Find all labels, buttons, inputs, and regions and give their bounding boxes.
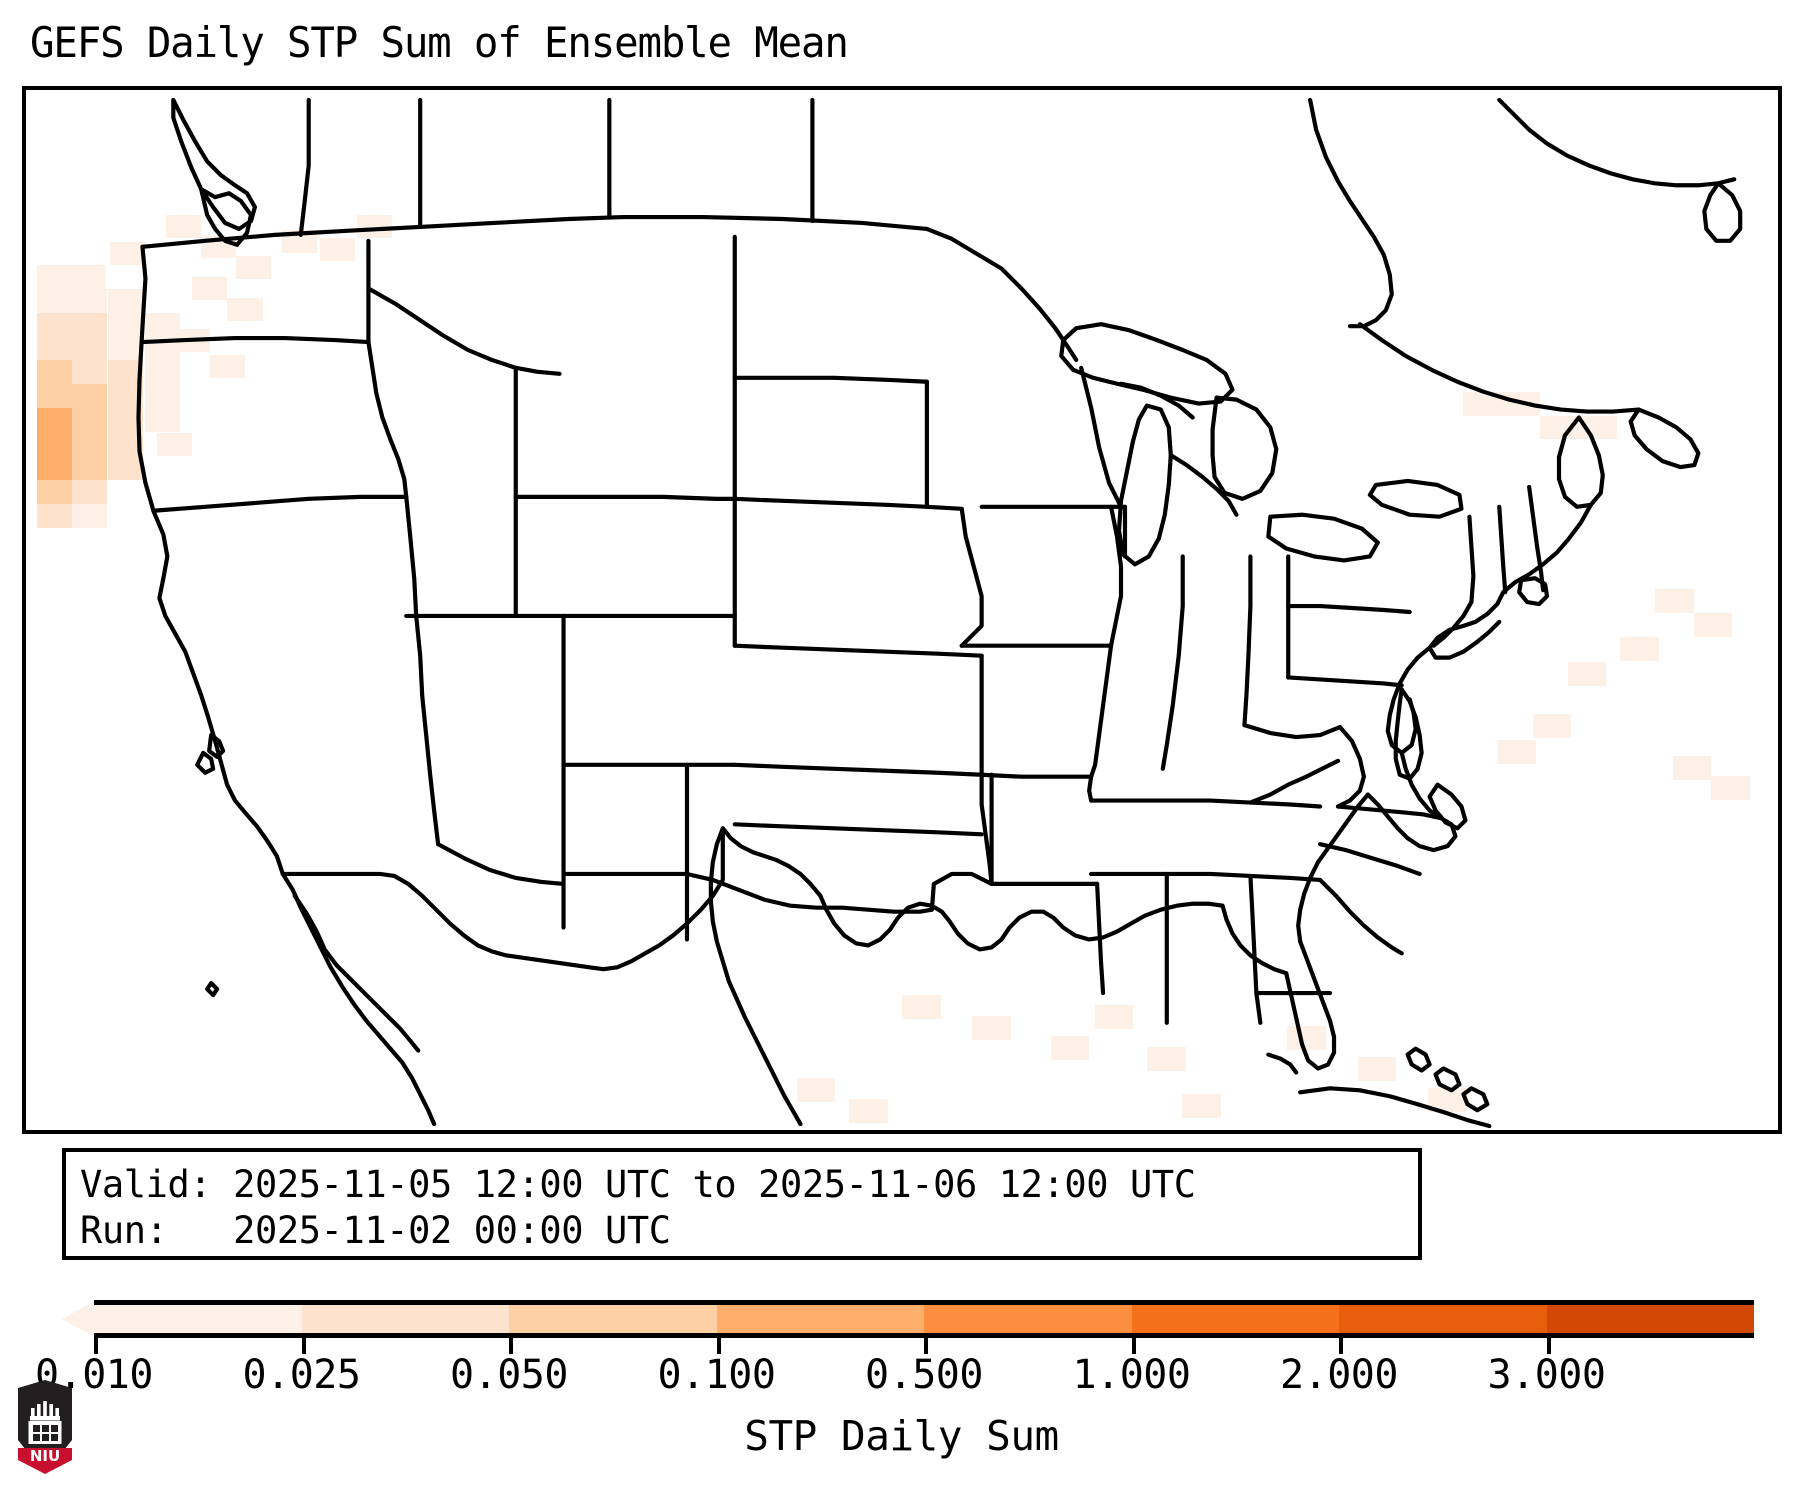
state-mi-lower bbox=[1171, 455, 1237, 515]
state-or-ca-nv bbox=[153, 497, 406, 511]
state-mo-ky-ms-river bbox=[1089, 777, 1091, 801]
colorbar-segment-5 bbox=[1132, 1305, 1340, 1333]
basemap-svg bbox=[26, 90, 1778, 1130]
bahamas-1 bbox=[1408, 1049, 1430, 1071]
colorbar-label-6: 2.000 bbox=[1280, 1352, 1398, 1398]
state-nv-ut-az bbox=[406, 497, 438, 844]
state-az-ca bbox=[438, 844, 563, 884]
st-lawrence bbox=[1360, 324, 1639, 411]
colorbar-label-1: 0.025 bbox=[243, 1352, 361, 1398]
colorbar-segment-6 bbox=[1339, 1305, 1547, 1333]
state-tn-ms-al-ga bbox=[1091, 874, 1320, 880]
state-ky-tn bbox=[1091, 801, 1320, 807]
state-ks-ok bbox=[735, 765, 982, 775]
state-ky-wv bbox=[1250, 761, 1338, 803]
nova-scotia bbox=[1631, 410, 1699, 468]
niu-logo: NIU bbox=[14, 1378, 76, 1476]
valid-time-line: Valid: 2025-11-05 12:00 UTC to 2025-11-0… bbox=[80, 1162, 1404, 1208]
state-nd-sd bbox=[735, 378, 927, 382]
colorbar-segment-0 bbox=[94, 1305, 302, 1333]
colorbar[interactable] bbox=[62, 1300, 1762, 1340]
lake-huron bbox=[1213, 398, 1277, 499]
border-mexico bbox=[283, 828, 723, 969]
coast-carolinas bbox=[1368, 753, 1456, 850]
state-ia-ne-mo-river bbox=[962, 509, 982, 646]
colorbar-under-arrow bbox=[62, 1300, 96, 1338]
state-ny-vt-nh bbox=[1469, 517, 1473, 602]
state-wv-va bbox=[1338, 727, 1364, 806]
lake-erie bbox=[1268, 515, 1378, 561]
state-pa-ny bbox=[1288, 606, 1409, 612]
state-ok-tx-north bbox=[735, 824, 982, 834]
state-ne-ks bbox=[735, 646, 982, 656]
coast-gulf bbox=[820, 896, 1222, 950]
state-in-oh bbox=[1244, 556, 1250, 725]
coast-labrador bbox=[1499, 100, 1734, 185]
colorbar-gradient bbox=[94, 1300, 1754, 1338]
niu-banner-text: NIU bbox=[30, 1447, 60, 1465]
run-time-line: Run: 2025-11-02 00:00 UTC bbox=[80, 1208, 1404, 1254]
colorbar-label-3: 0.100 bbox=[658, 1352, 776, 1398]
colorbar-label-7: 3.000 bbox=[1488, 1352, 1606, 1398]
state-tx-la bbox=[932, 874, 992, 910]
state-nc-sc bbox=[1320, 844, 1420, 874]
bahamas-3 bbox=[1463, 1088, 1487, 1110]
colorbar-axis-title: STP Daily Sum bbox=[0, 1412, 1803, 1460]
state-or-id bbox=[368, 342, 406, 497]
new-brunswick-coast bbox=[1559, 417, 1603, 506]
newfoundland bbox=[1704, 183, 1740, 241]
colorbar-segment-3 bbox=[717, 1305, 925, 1333]
colorbar-label-4: 0.500 bbox=[865, 1352, 983, 1398]
outer-banks bbox=[1430, 785, 1466, 829]
map-panel bbox=[22, 86, 1782, 1134]
colorbar-segment-4 bbox=[924, 1305, 1132, 1333]
page-title: GEFS Daily STP Sum of Ensemble Mean bbox=[30, 18, 848, 67]
colorbar-label-5: 1.000 bbox=[1073, 1352, 1191, 1398]
coast-vancouver-island bbox=[173, 100, 255, 229]
state-sc-ga bbox=[1320, 880, 1402, 953]
gulf-of-california bbox=[295, 896, 418, 1051]
info-box: Valid: 2025-11-05 12:00 UTC to 2025-11-0… bbox=[62, 1148, 1422, 1260]
cuba-coast bbox=[1300, 1088, 1489, 1126]
coast-hudson-left bbox=[1310, 100, 1392, 326]
state-il-in bbox=[1163, 556, 1183, 768]
state-pa-md bbox=[1288, 677, 1401, 685]
baja-dot bbox=[207, 983, 217, 995]
state-al-ga bbox=[1250, 876, 1260, 1023]
border-canada-49 bbox=[623, 217, 927, 229]
chesapeake bbox=[1396, 689, 1422, 778]
province-line-1 bbox=[301, 100, 309, 235]
state-mt-wy bbox=[516, 368, 735, 499]
state-oh-ky bbox=[1244, 725, 1340, 737]
colorbar-segment-2 bbox=[509, 1305, 717, 1333]
colorbar-label-2: 0.050 bbox=[450, 1352, 568, 1398]
state-mn-north bbox=[927, 229, 1076, 360]
state-id-mt bbox=[368, 288, 559, 373]
state-vt-nh bbox=[1499, 507, 1505, 592]
colorbar-tick-labels: 0.0100.0250.0500.1000.5001.0002.0003.000 bbox=[0, 1352, 1803, 1402]
state-mn-wi bbox=[1081, 368, 1121, 507]
colorbar-segment-7 bbox=[1547, 1305, 1755, 1333]
state-mo-ar bbox=[982, 775, 1092, 777]
bahamas-2 bbox=[1436, 1068, 1460, 1090]
florida-keys bbox=[1268, 1055, 1296, 1073]
colorbar-segment-1 bbox=[302, 1305, 510, 1333]
lake-ontario bbox=[1370, 481, 1462, 517]
baja-island-2 bbox=[197, 753, 213, 773]
niu-logo-svg: NIU bbox=[14, 1378, 76, 1476]
coast-florida-east bbox=[1286, 941, 1334, 1068]
border-canada-west bbox=[142, 217, 623, 247]
texas-coast bbox=[723, 828, 821, 895]
state-wa-or bbox=[142, 338, 368, 342]
state-il-mo bbox=[1091, 646, 1111, 777]
